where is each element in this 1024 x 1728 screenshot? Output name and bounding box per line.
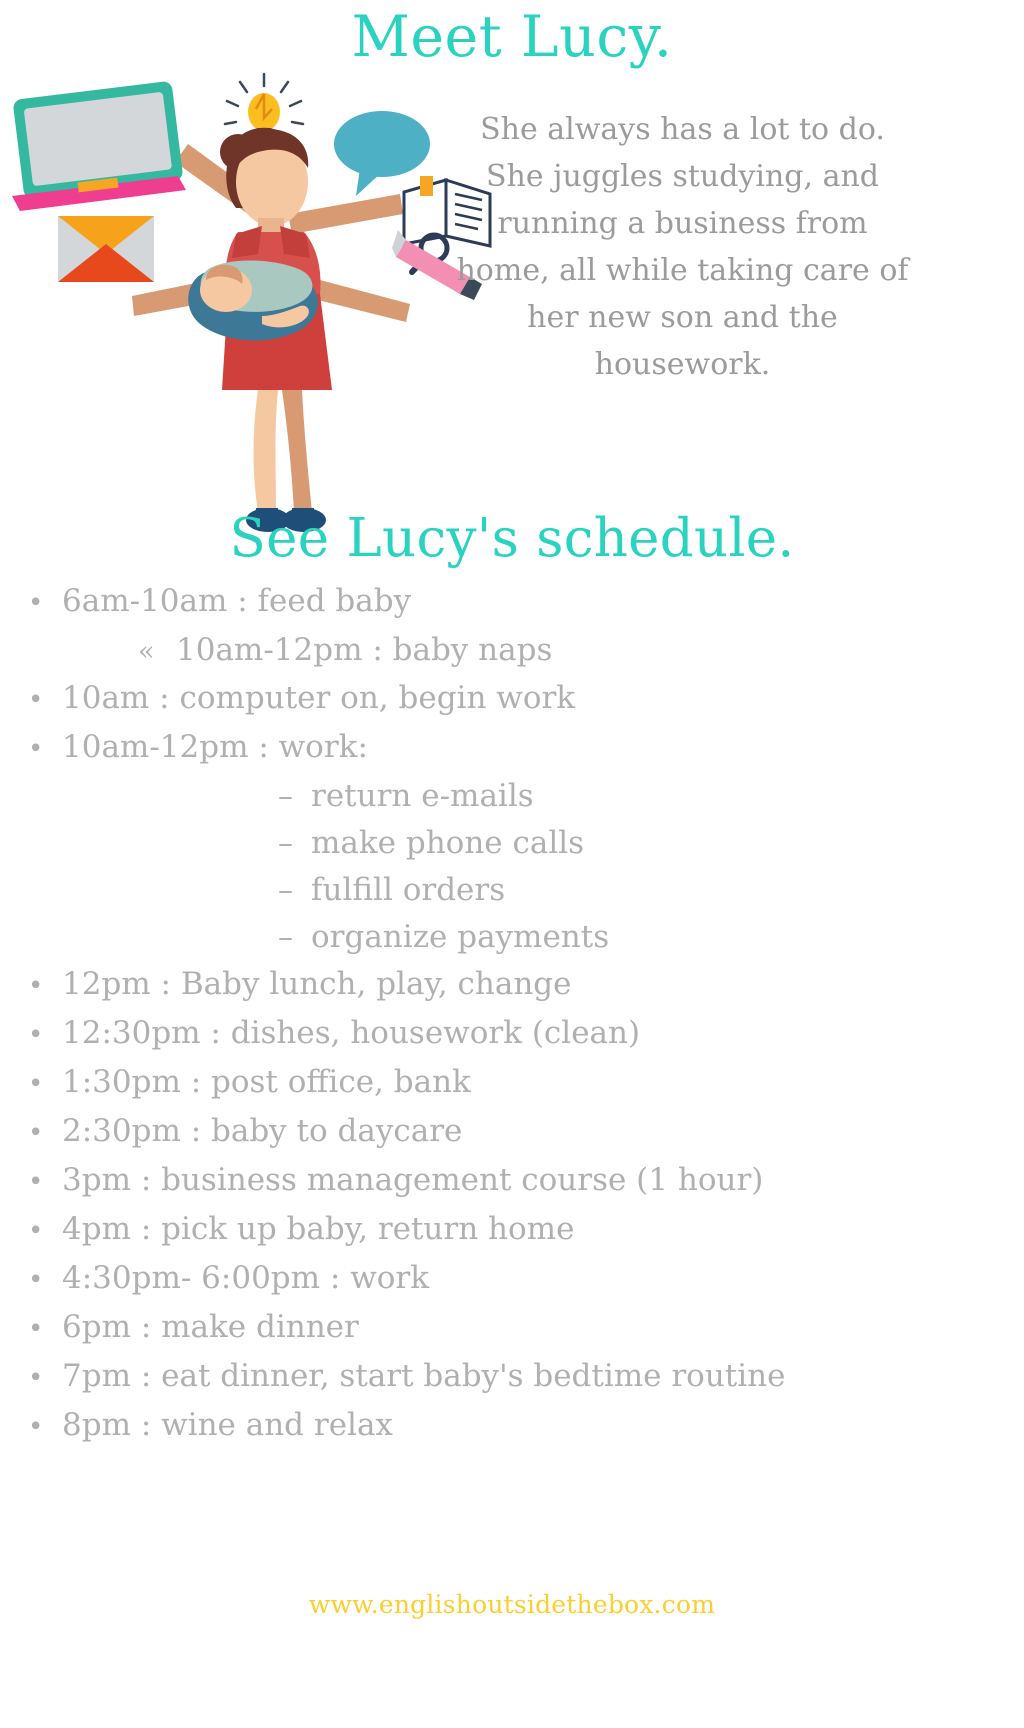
multitasking-mother-illustration [0,72,500,542]
schedule-item-label: 4pm : pick up baby, return home [62,1206,574,1253]
schedule-item-label: 8pm : wine and relax [62,1402,393,1449]
list-marker-icon: • [28,963,62,1010]
list-marker-icon: • [28,1110,62,1157]
baby-icon [188,261,318,341]
list-marker-icon: – [278,914,311,961]
schedule-item: –fulfill orders [0,867,1024,914]
schedule-item: •1:30pm : post office, bank [0,1059,1024,1108]
schedule-item: •8pm : wine and relax [0,1402,1024,1451]
schedule-item-label: 10am : computer on, begin work [62,675,575,722]
schedule-item: •6pm : make dinner [0,1304,1024,1353]
schedule-item: «10am-12pm : baby naps [0,627,1024,675]
list-marker-icon: • [28,726,62,773]
schedule-list: •6am-10am : feed baby«10am-12pm : baby n… [0,578,1024,1451]
schedule-item: •2:30pm : baby to daycare [0,1108,1024,1157]
schedule-item: •4:30pm- 6:00pm : work [0,1255,1024,1304]
page-title: Meet Lucy. [0,6,1024,69]
schedule-item-label: 4:30pm- 6:00pm : work [62,1255,429,1302]
schedule-item-label: 1:30pm : post office, bank [62,1059,471,1106]
laptop-icon [12,81,186,211]
schedule-item: •4pm : pick up baby, return home [0,1206,1024,1255]
schedule-item: •6am-10am : feed baby [0,578,1024,627]
list-marker-icon: « [138,628,176,675]
schedule-item: •3pm : business management course (1 hou… [0,1157,1024,1206]
schedule-item-label: organize payments [311,914,609,961]
list-marker-icon: • [28,1208,62,1255]
schedule-item: •10am : computer on, begin work [0,675,1024,724]
envelope-icon [58,216,154,282]
schedule-title: See Lucy's schedule. [0,510,1024,568]
schedule-item: –organize payments [0,914,1024,961]
intro-paragraph: She always has a lot to do. She juggles … [455,106,910,389]
list-marker-icon: • [28,1355,62,1402]
schedule-item: –return e-mails [0,773,1024,820]
list-marker-icon: • [28,1159,62,1206]
schedule-item-label: 2:30pm : baby to daycare [62,1108,462,1155]
list-marker-icon: – [278,867,311,914]
list-marker-icon: • [28,677,62,724]
schedule-item-label: 6am-10am : feed baby [62,578,411,625]
woman-figure [188,128,332,532]
speech-bubble-icon [334,111,430,196]
list-marker-icon: • [28,1257,62,1304]
list-marker-icon: – [278,820,311,867]
schedule-item-label: return e-mails [311,773,534,820]
schedule-item: •7pm : eat dinner, start baby's bedtime … [0,1353,1024,1402]
list-marker-icon: • [28,580,62,627]
list-marker-icon: • [28,1061,62,1108]
list-marker-icon: – [278,773,311,820]
footer-website-url[interactable]: www.englishoutsidethebox.com [0,1590,1024,1619]
schedule-item-label: 12pm : Baby lunch, play, change [62,961,572,1008]
schedule-item: •12:30pm : dishes, housework (clean) [0,1010,1024,1059]
schedule-item-label: 10am-12pm : baby naps [176,627,552,674]
schedule-item-label: 3pm : business management course (1 hour… [62,1157,763,1204]
schedule-item-label: 12:30pm : dishes, housework (clean) [62,1010,640,1057]
list-marker-icon: • [28,1404,62,1451]
schedule-item-label: 7pm : eat dinner, start baby's bedtime r… [62,1353,786,1400]
schedule-item-label: fulfill orders [311,867,505,914]
schedule-item-label: 6pm : make dinner [62,1304,359,1351]
schedule-item-label: make phone calls [311,820,584,867]
schedule-item: –make phone calls [0,820,1024,867]
schedule-item: •12pm : Baby lunch, play, change [0,961,1024,1010]
infographic-poster: Meet Lucy. [0,0,1024,1728]
schedule-item-label: 10am-12pm : work: [62,724,368,771]
schedule-item: •10am-12pm : work: [0,724,1024,773]
list-marker-icon: • [28,1012,62,1059]
list-marker-icon: • [28,1306,62,1353]
